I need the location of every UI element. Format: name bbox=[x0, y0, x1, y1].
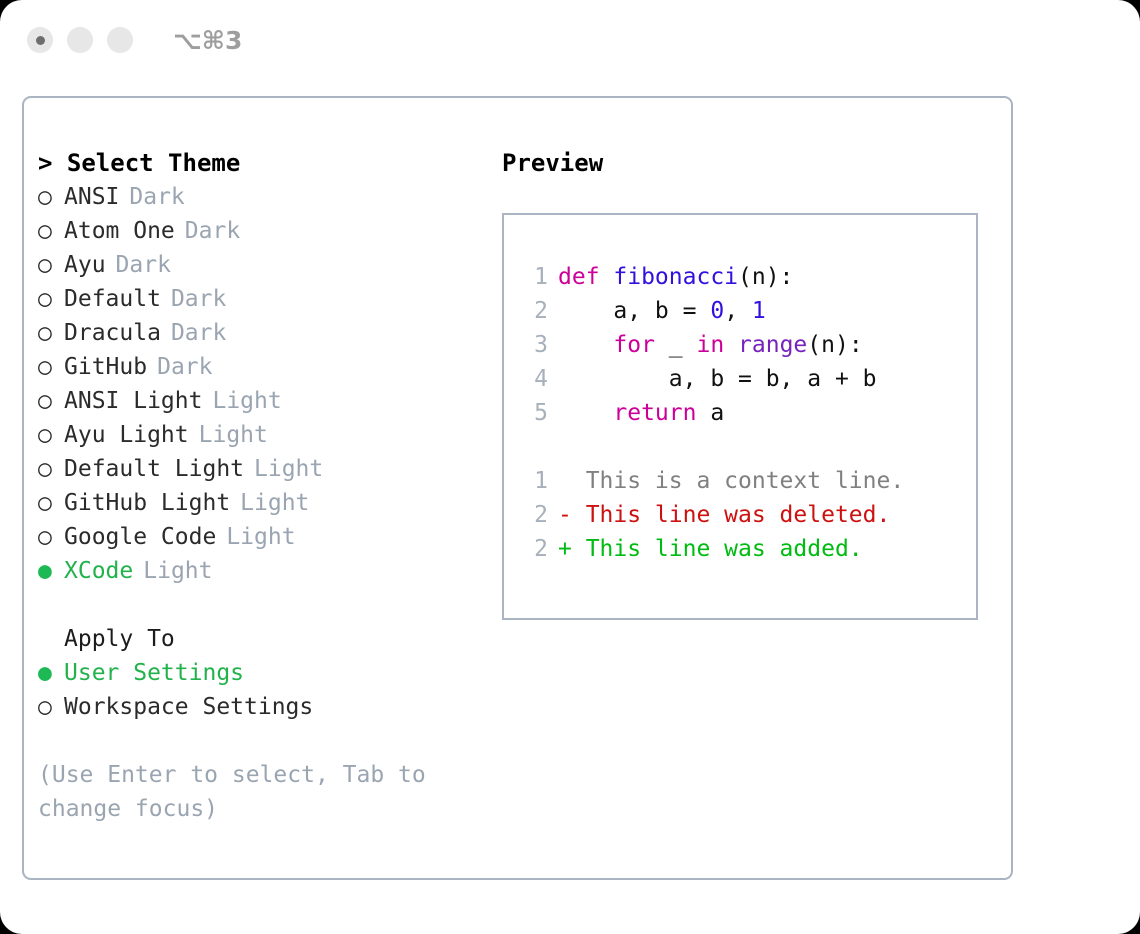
line-number: 1 bbox=[520, 260, 548, 294]
code-spacer bbox=[520, 430, 970, 464]
preview-box: 1def fibonacci(n):2 a, b = 0, 13 for _ i… bbox=[502, 213, 978, 620]
window-dot-2[interactable] bbox=[67, 27, 93, 53]
theme-option-variant-tag: Light bbox=[240, 486, 309, 520]
code-line-1: 2 a, b = 0, 1 bbox=[520, 294, 970, 328]
theme-option-4[interactable]: ○DraculaDark bbox=[38, 316, 488, 350]
radio-unselected-icon: ○ bbox=[38, 180, 64, 214]
theme-option-2[interactable]: ○AyuDark bbox=[38, 248, 488, 282]
token: in bbox=[696, 332, 724, 358]
apply-option-label: Workspace Settings bbox=[64, 690, 313, 724]
app-window: ⌥⌘3 > Select Theme ○ANSIDark○Atom OneDar… bbox=[0, 0, 1140, 934]
theme-option-label: ANSI bbox=[64, 180, 119, 214]
preview-column: Preview 1def fibonacci(n):2 a, b = 0, 13… bbox=[502, 146, 1002, 620]
token: This is a context line. bbox=[558, 468, 904, 494]
token: , bbox=[724, 298, 752, 324]
token bbox=[558, 400, 613, 426]
theme-option-label: XCode bbox=[64, 554, 133, 588]
token: 0 bbox=[710, 298, 724, 324]
theme-option-11[interactable]: ●XCodeLight bbox=[38, 554, 488, 588]
line-number: 2 bbox=[520, 532, 548, 566]
radio-unselected-icon: ○ bbox=[38, 520, 64, 554]
diff-sample: 1 This is a context line.2- This line wa… bbox=[520, 464, 970, 566]
token: a, b = b, a + b bbox=[558, 366, 877, 392]
radio-unselected-icon: ○ bbox=[38, 384, 64, 418]
theme-option-variant-tag: Dark bbox=[171, 282, 226, 316]
token: (n): bbox=[807, 332, 862, 358]
token: + This line was added. bbox=[558, 536, 863, 562]
theme-option-label: ANSI Light bbox=[64, 384, 202, 418]
theme-option-3[interactable]: ○DefaultDark bbox=[38, 282, 488, 316]
line-content: def fibonacci(n): bbox=[558, 260, 793, 294]
theme-list: ○ANSIDark○Atom OneDark○AyuDark○DefaultDa… bbox=[38, 180, 488, 588]
token: def bbox=[558, 264, 613, 290]
preview-code-area: 1def fibonacci(n):2 a, b = 0, 13 for _ i… bbox=[520, 260, 970, 566]
line-number: 4 bbox=[520, 362, 548, 396]
line-content: + This line was added. bbox=[558, 532, 863, 566]
token: 1 bbox=[752, 298, 766, 324]
theme-option-variant-tag: Dark bbox=[157, 350, 212, 384]
keyboard-shortcut-label: ⌥⌘3 bbox=[173, 26, 242, 55]
line-content: This is a context line. bbox=[558, 464, 904, 498]
theme-option-variant-tag: Dark bbox=[129, 180, 184, 214]
theme-option-label: Atom One bbox=[64, 214, 175, 248]
keyboard-hint-text: (Use Enter to select, Tab to change focu… bbox=[38, 758, 438, 826]
theme-option-6[interactable]: ○ANSI LightLight bbox=[38, 384, 488, 418]
select-theme-heading: > Select Theme bbox=[38, 146, 488, 180]
theme-option-variant-tag: Light bbox=[212, 384, 281, 418]
theme-option-variant-tag: Light bbox=[143, 554, 212, 588]
theme-option-7[interactable]: ○Ayu LightLight bbox=[38, 418, 488, 452]
window-dot-active[interactable] bbox=[27, 27, 53, 53]
line-content: for _ in range(n): bbox=[558, 328, 863, 362]
theme-option-label: Google Code bbox=[64, 520, 216, 554]
theme-picker-panel: > Select Theme ○ANSIDark○Atom OneDark○Ay… bbox=[22, 96, 1013, 880]
theme-option-variant-tag: Dark bbox=[116, 248, 171, 282]
line-number: 5 bbox=[520, 396, 548, 430]
theme-option-label: Default Light bbox=[64, 452, 244, 486]
token bbox=[724, 332, 738, 358]
token bbox=[558, 332, 613, 358]
theme-option-10[interactable]: ○Google CodeLight bbox=[38, 520, 488, 554]
theme-option-label: GitHub Light bbox=[64, 486, 230, 520]
preview-heading: Preview bbox=[502, 146, 1002, 180]
theme-option-0[interactable]: ○ANSIDark bbox=[38, 180, 488, 214]
theme-option-8[interactable]: ○Default LightLight bbox=[38, 452, 488, 486]
token: _ bbox=[655, 332, 697, 358]
window-dot-active-inner bbox=[36, 36, 45, 45]
token: - This line was deleted. bbox=[558, 502, 890, 528]
theme-option-9[interactable]: ○GitHub LightLight bbox=[38, 486, 488, 520]
token: a, b = bbox=[558, 298, 710, 324]
theme-option-label: GitHub bbox=[64, 350, 147, 384]
apply-to-heading: Apply To bbox=[38, 622, 488, 656]
code-line-2: 3 for _ in range(n): bbox=[520, 328, 970, 362]
radio-unselected-icon: ○ bbox=[38, 690, 64, 724]
radio-selected-icon: ● bbox=[38, 656, 64, 690]
theme-option-variant-tag: Light bbox=[226, 520, 295, 554]
radio-unselected-icon: ○ bbox=[38, 316, 64, 350]
token: (n): bbox=[738, 264, 793, 290]
token: a bbox=[696, 400, 724, 426]
radio-unselected-icon: ○ bbox=[38, 452, 64, 486]
theme-option-5[interactable]: ○GitHubDark bbox=[38, 350, 488, 384]
code-line-3: 4 a, b = b, a + b bbox=[520, 362, 970, 396]
radio-selected-icon: ● bbox=[38, 554, 64, 588]
window-dot-3[interactable] bbox=[107, 27, 133, 53]
token: return bbox=[613, 400, 696, 426]
apply-option-label: User Settings bbox=[64, 656, 244, 690]
line-content: - This line was deleted. bbox=[558, 498, 890, 532]
line-number: 1 bbox=[520, 464, 548, 498]
radio-unselected-icon: ○ bbox=[38, 248, 64, 282]
line-content: a, b = 0, 1 bbox=[558, 294, 766, 328]
line-number: 2 bbox=[520, 294, 548, 328]
code-line-4: 5 return a bbox=[520, 396, 970, 430]
line-number: 2 bbox=[520, 498, 548, 532]
diff-line-2: 2+ This line was added. bbox=[520, 532, 970, 566]
theme-option-label: Ayu Light bbox=[64, 418, 189, 452]
line-number: 3 bbox=[520, 328, 548, 362]
token: for bbox=[613, 332, 655, 358]
window-titlebar: ⌥⌘3 bbox=[0, 0, 1140, 80]
theme-selection-column: > Select Theme ○ANSIDark○Atom OneDark○Ay… bbox=[38, 146, 488, 826]
theme-option-label: Dracula bbox=[64, 316, 161, 350]
radio-unselected-icon: ○ bbox=[38, 350, 64, 384]
diff-line-1: 2- This line was deleted. bbox=[520, 498, 970, 532]
code-sample: 1def fibonacci(n):2 a, b = 0, 13 for _ i… bbox=[520, 260, 970, 430]
line-content: return a bbox=[558, 396, 724, 430]
apply-to-section: Apply To ●User Settings○Workspace Settin… bbox=[38, 622, 488, 724]
token: fibonacci bbox=[613, 264, 738, 290]
code-line-0: 1def fibonacci(n): bbox=[520, 260, 970, 294]
apply-option-0[interactable]: ●User Settings bbox=[38, 656, 488, 690]
apply-option-1[interactable]: ○Workspace Settings bbox=[38, 690, 488, 724]
radio-unselected-icon: ○ bbox=[38, 486, 64, 520]
token: range bbox=[738, 332, 807, 358]
radio-unselected-icon: ○ bbox=[38, 282, 64, 316]
radio-unselected-icon: ○ bbox=[38, 214, 64, 248]
diff-line-0: 1 This is a context line. bbox=[520, 464, 970, 498]
theme-option-1[interactable]: ○Atom OneDark bbox=[38, 214, 488, 248]
theme-option-variant-tag: Dark bbox=[171, 316, 226, 350]
apply-to-list: ●User Settings○Workspace Settings bbox=[38, 656, 488, 724]
radio-unselected-icon: ○ bbox=[38, 418, 64, 452]
line-content: a, b = b, a + b bbox=[558, 362, 877, 396]
theme-option-label: Default bbox=[64, 282, 161, 316]
theme-option-label: Ayu bbox=[64, 248, 106, 282]
theme-option-variant-tag: Light bbox=[254, 452, 323, 486]
theme-option-variant-tag: Light bbox=[199, 418, 268, 452]
theme-option-variant-tag: Dark bbox=[185, 214, 240, 248]
